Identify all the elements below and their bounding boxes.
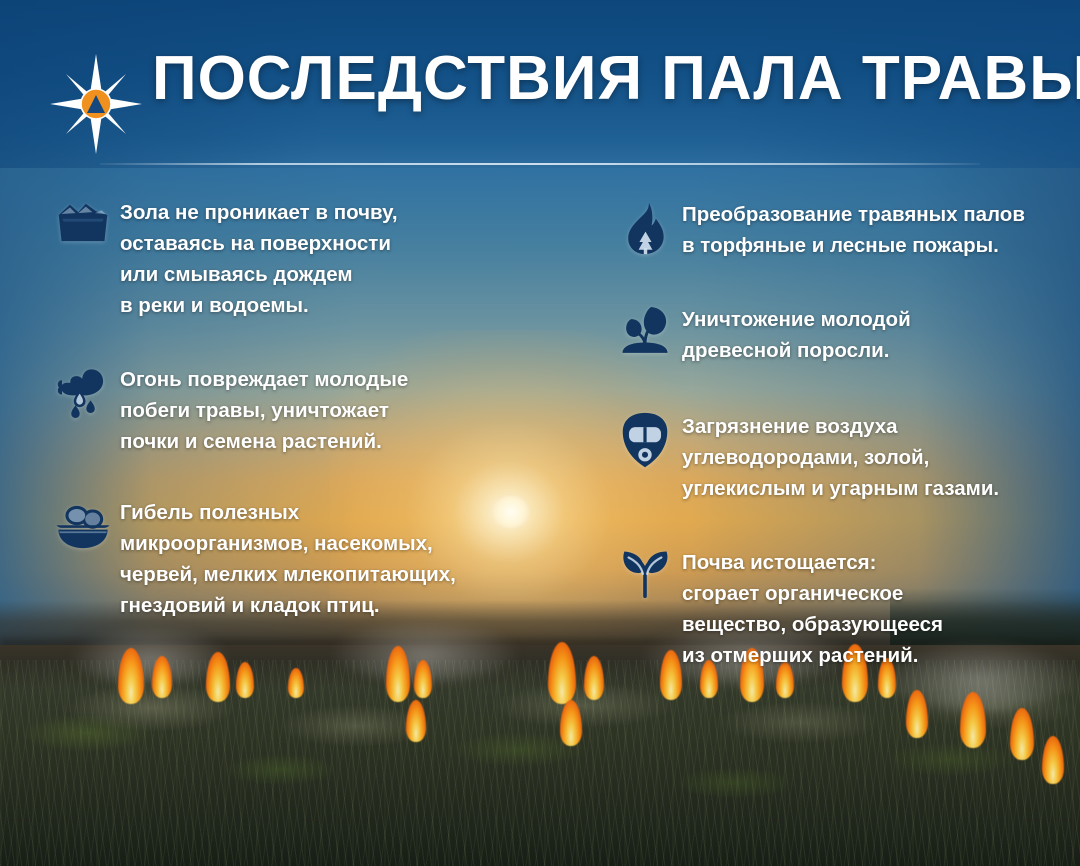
page-title: ПОСЛЕДСТВИЯ ПАЛА ТРАВЫ bbox=[152, 48, 1080, 110]
list-item: Уничтожение молодой древесной поросли. bbox=[608, 303, 1064, 366]
list-item-text: Загрязнение воздуха углеводородами, золо… bbox=[682, 410, 1064, 504]
infographic-poster: ПОСЛЕДСТВИЯ ПАЛА ТРАВЫ Зола не проникает… bbox=[0, 0, 1080, 866]
list-item-text: Почва истощается: сгорает органическое в… bbox=[682, 546, 1064, 671]
right-consequences-column: Преобразование травяных палов в торфяные… bbox=[608, 196, 1064, 671]
emercom-star-icon bbox=[48, 52, 144, 156]
list-item-text: Преобразование травяных палов в торфяные… bbox=[682, 198, 1064, 261]
flame-with-tree-icon bbox=[608, 198, 682, 256]
list-item: Преобразование травяных палов в торфяные… bbox=[608, 198, 1064, 261]
list-item: Гибель полезных микроорганизмов, насеком… bbox=[46, 496, 516, 621]
list-item-text: Зола не проникает в почву, оставаясь на … bbox=[120, 196, 516, 321]
list-item-text: Огонь повреждает молодые побеги травы, у… bbox=[120, 363, 516, 457]
list-item: Почва истощается: сгорает органическое в… bbox=[608, 546, 1064, 671]
list-item: Зола не проникает в почву, оставаясь на … bbox=[46, 196, 516, 321]
sapling-on-mound-icon bbox=[608, 303, 682, 354]
list-item-text: Уничтожение молодой древесной поросли. bbox=[682, 303, 1064, 366]
sprout-two-leaves-icon bbox=[608, 546, 682, 598]
soil-layer-icon bbox=[46, 196, 120, 243]
header-divider bbox=[100, 163, 980, 165]
left-consequences-column: Зола не проникает в почву, оставаясь на … bbox=[46, 196, 516, 621]
list-item: Огонь повреждает молодые побеги травы, у… bbox=[46, 363, 516, 457]
nest-with-eggs-icon bbox=[46, 496, 120, 549]
hand-water-drops-icon bbox=[46, 363, 120, 419]
gas-mask-icon bbox=[608, 410, 682, 469]
list-item: Загрязнение воздуха углеводородами, золо… bbox=[608, 410, 1064, 504]
list-item-text: Гибель полезных микроорганизмов, насеком… bbox=[120, 496, 516, 621]
